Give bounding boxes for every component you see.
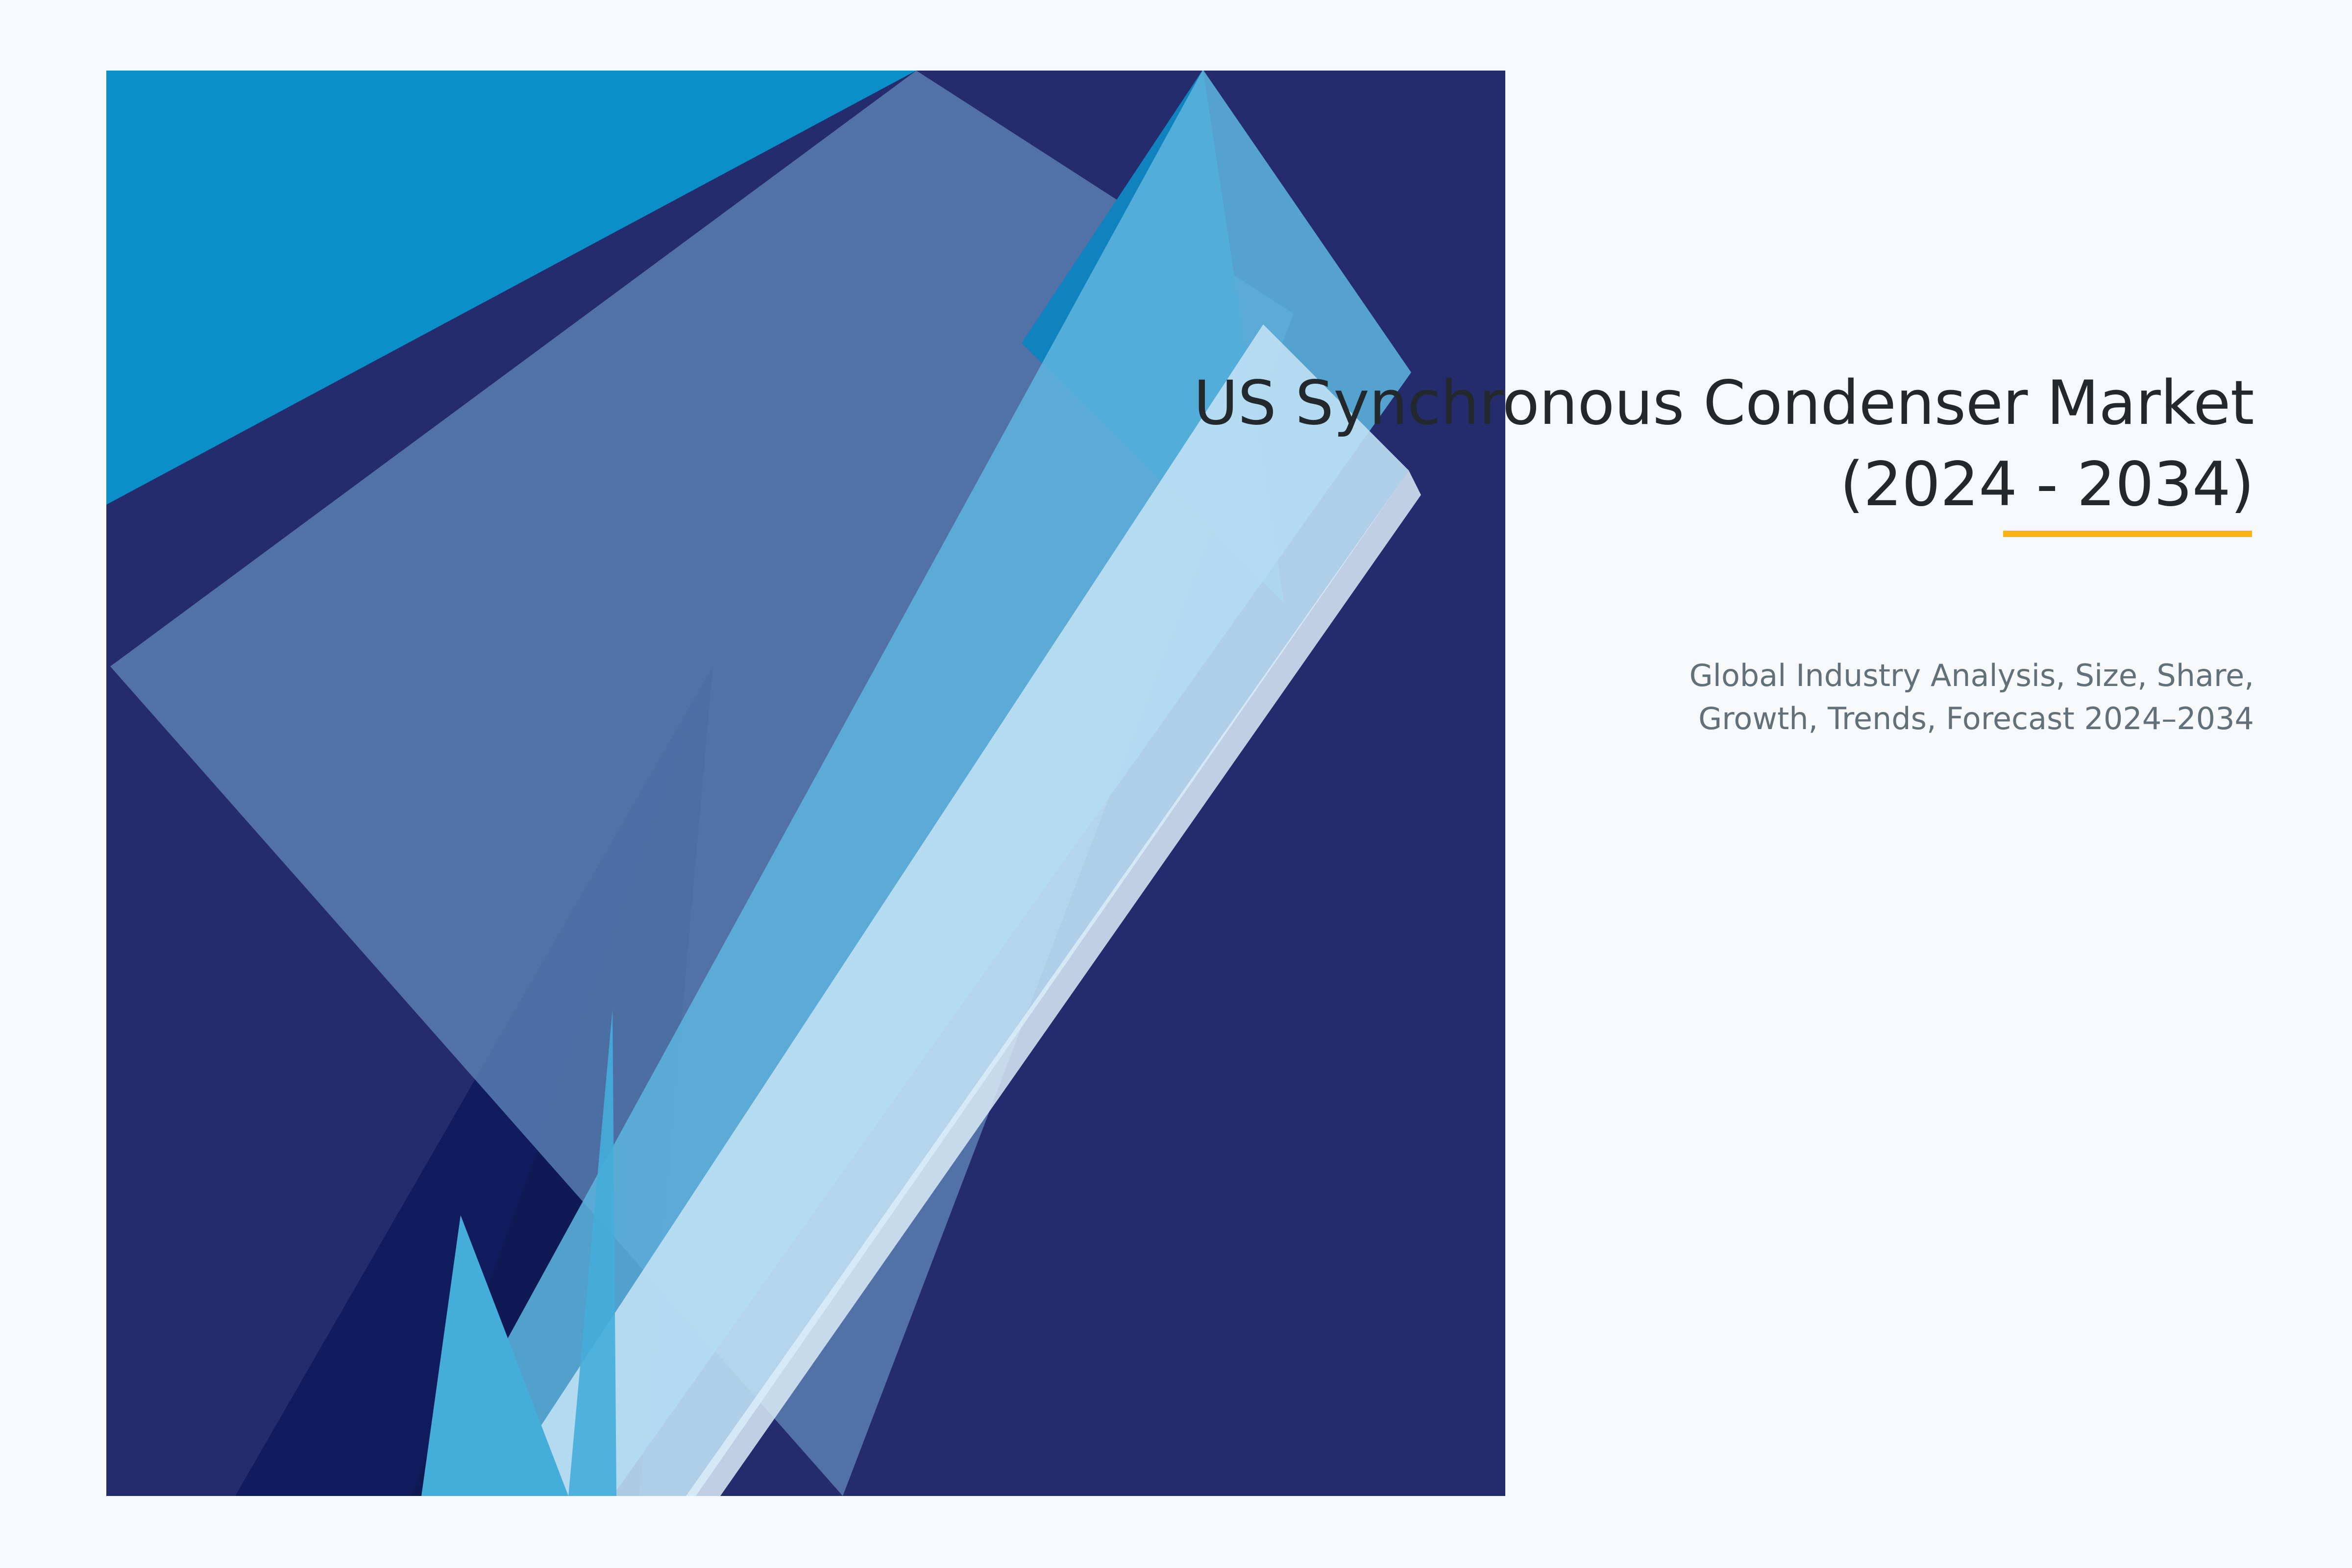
cover-title-block: US Synchronous Condenser Market (2024 - … [784,363,2254,525]
page-subtitle: Global Industry Analysis, Size, Share, G… [784,654,2254,740]
report-cover-page: US Synchronous Condenser Market (2024 - … [0,0,2352,1568]
cover-artwork [0,0,2352,1568]
page-title: US Synchronous Condenser Market (2024 - … [784,363,2254,525]
